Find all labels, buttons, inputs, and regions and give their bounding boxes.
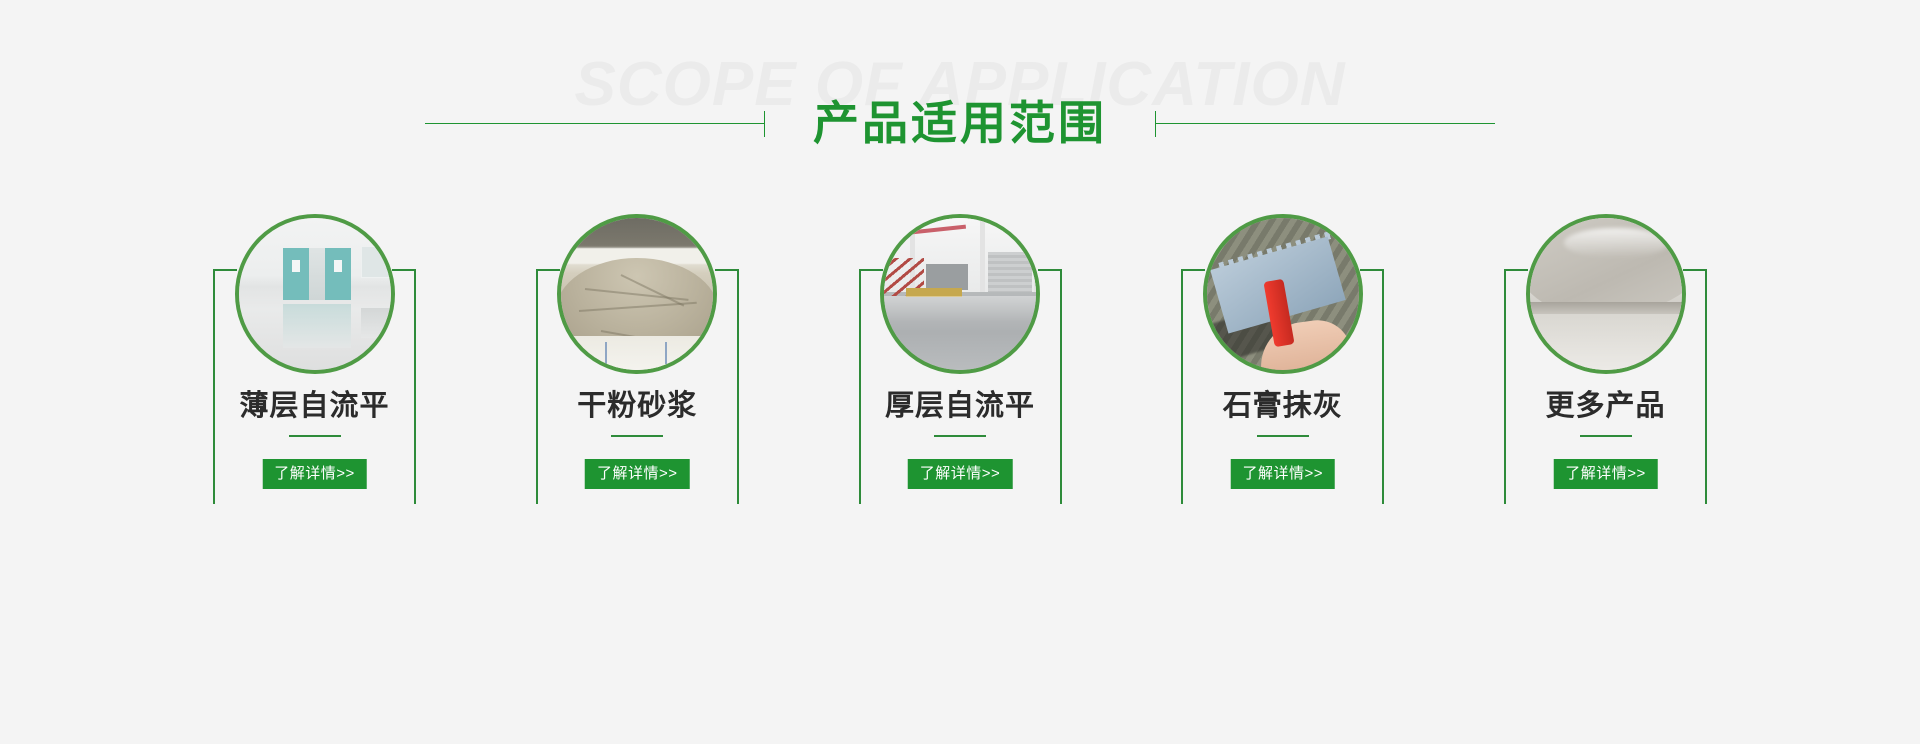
product-card[interactable]: 更多产品 了解详情>> [1504, 214, 1707, 504]
card-frame-left-cap [1181, 269, 1205, 271]
product-card[interactable]: 干粉砂浆 了解详情>> [536, 214, 739, 504]
card-frame-right-line [1382, 269, 1384, 504]
card-frame-left-line [536, 269, 538, 504]
product-image-dry-powder-mortar[interactable] [557, 214, 717, 374]
card-frame-left-cap [213, 269, 237, 271]
learn-more-button[interactable]: 了解详情>> [1553, 459, 1658, 489]
card-frame-left-line [213, 269, 215, 504]
learn-more-button[interactable]: 了解详情>> [585, 459, 690, 489]
card-frame-right-line [414, 269, 416, 504]
product-image-thin-self-leveling[interactable] [235, 214, 395, 374]
card-frame-right-cap [1360, 269, 1384, 271]
card-frame-right-cap [392, 269, 416, 271]
learn-more-button[interactable]: 了解详情>> [1230, 459, 1335, 489]
card-frame-left-cap [536, 269, 560, 271]
product-card-label: 薄层自流平 [213, 392, 416, 421]
title-row: 产品适用范围 [0, 100, 1920, 146]
card-divider [289, 435, 341, 437]
card-frame-right-line [1060, 269, 1062, 504]
page-title: 产品适用范围 [765, 100, 1155, 146]
title-rule-left [425, 123, 765, 124]
card-frame-left-cap [1504, 269, 1528, 271]
card-frame-left-cap [859, 269, 883, 271]
card-divider [1580, 435, 1632, 437]
card-frame-right-line [737, 269, 739, 504]
product-card-list: 薄层自流平 了解详情>> [213, 214, 1707, 514]
card-frame-right-cap [715, 269, 739, 271]
product-card-label: 石膏抹灰 [1181, 392, 1384, 421]
product-card[interactable]: 厚层自流平 了解详情>> [859, 214, 1062, 504]
product-card-label: 厚层自流平 [859, 392, 1062, 421]
card-frame-right-cap [1683, 269, 1707, 271]
product-card[interactable]: 薄层自流平 了解详情>> [213, 214, 416, 504]
title-rule-right [1155, 123, 1495, 124]
product-image-gypsum-plaster[interactable] [1203, 214, 1363, 374]
learn-more-button[interactable]: 了解详情>> [262, 459, 367, 489]
product-image-thick-self-leveling[interactable] [880, 214, 1040, 374]
product-card-label: 干粉砂浆 [536, 392, 739, 421]
card-frame-right-cap [1038, 269, 1062, 271]
product-card-label: 更多产品 [1504, 392, 1707, 421]
card-divider [934, 435, 986, 437]
card-divider [611, 435, 663, 437]
title-rule-right-tick [1155, 111, 1156, 137]
product-image-more-products[interactable] [1526, 214, 1686, 374]
application-scope-section: SCOPE OF APPLICATION 产品适用范围 [0, 0, 1920, 744]
card-frame-left-line [1504, 269, 1506, 504]
card-frame-left-line [859, 269, 861, 504]
section-header: SCOPE OF APPLICATION 产品适用范围 [0, 0, 1920, 200]
product-card[interactable]: 石膏抹灰 了解详情>> [1181, 214, 1384, 504]
card-divider [1257, 435, 1309, 437]
card-frame-right-line [1705, 269, 1707, 504]
card-frame-left-line [1181, 269, 1183, 504]
learn-more-button[interactable]: 了解详情>> [908, 459, 1013, 489]
